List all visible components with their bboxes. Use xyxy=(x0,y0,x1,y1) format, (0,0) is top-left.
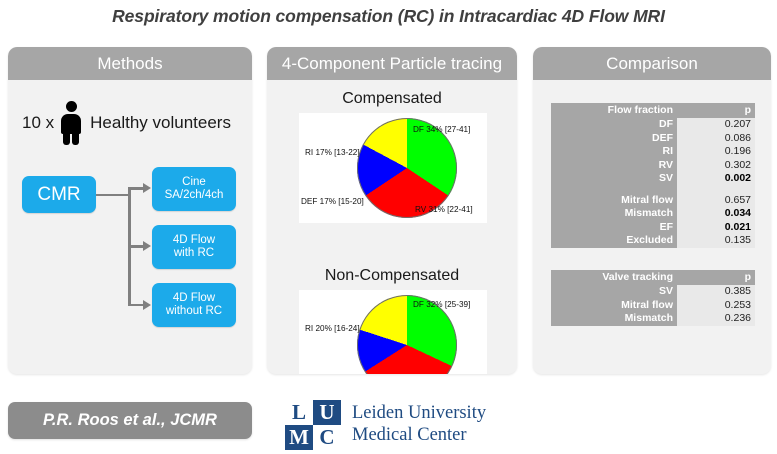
lumc-logo-mark: L U M C xyxy=(285,400,341,450)
flow-node-without-rc-line1: 4D Flow xyxy=(173,292,215,304)
table-row: DF0.207 xyxy=(551,118,755,132)
table-cell-label: SV xyxy=(551,172,677,186)
table-cell-label: Mismatch xyxy=(551,207,677,221)
lumc-letter-u: U xyxy=(313,400,341,425)
table-cell-pvalue: 0.302 xyxy=(677,159,755,173)
table-cell-pvalue: 0.207 xyxy=(677,118,755,132)
table-cell-label: EF xyxy=(551,221,677,235)
table-cell-pvalue: 0.021 xyxy=(677,221,755,235)
table-row: DEF0.086 xyxy=(551,132,755,146)
table-cell-label: Mismatch xyxy=(551,312,677,326)
connector-branch-3 xyxy=(128,304,144,307)
methods-flow-diagram: CMR Cine SA/2ch/4ch 4D Flow with RC 4D F… xyxy=(20,167,242,347)
lumc-letter-m: M xyxy=(285,425,313,450)
citation-badge: P.R. Roos et al., JCMR xyxy=(8,402,252,439)
particle-tracing-panel-header: 4-Component Particle tracing xyxy=(267,47,517,80)
pie-chart-1-label-df: DF 34% [27-41] xyxy=(413,125,470,134)
table-cell-pvalue: 0.657 xyxy=(677,194,755,208)
comparison-panel: Comparison Flow fractionpDF0.207DEF0.086… xyxy=(533,47,771,374)
table-cell-pvalue: 0.034 xyxy=(677,207,755,221)
table-row: Mitral flow0.253 xyxy=(551,299,755,313)
lumc-name-line2: Medical Center xyxy=(352,425,486,447)
connector-branch-1 xyxy=(128,187,144,190)
table-cell-pvalue: 0.385 xyxy=(677,285,755,299)
valve-tracking-table: Valve trackingpSV0.385Mitral flow0.253Mi… xyxy=(551,270,755,326)
lumc-logo-name: Leiden University Medical Center xyxy=(352,403,486,446)
flow-node-4d-flow-with-rc[interactable]: 4D Flow with RC xyxy=(152,225,236,269)
pie-chart-2: DF 32% [25-39] RV 34% [24-43] DEF 14% [1… xyxy=(299,290,487,374)
person-icon xyxy=(58,100,84,146)
table-cell-label: Mitral flow xyxy=(551,194,677,208)
table-row: RI0.196 xyxy=(551,145,755,159)
flow-node-with-rc-line2: with RC xyxy=(174,247,214,259)
pie-chart-2-label-ri: RI 20% [16-24] xyxy=(305,324,360,333)
table-row: Mitral flow0.657 xyxy=(551,194,755,208)
volunteers-row: 10 x Healthy volunteers xyxy=(22,99,238,147)
pie-chart-2-title: Non-Compensated xyxy=(267,267,517,285)
connector-branch-2 xyxy=(128,245,144,248)
pie-chart-1: DF 34% [27-41] RV 31% [22-41] DEF 17% [1… xyxy=(299,113,487,223)
table-cell-label: DF xyxy=(551,118,677,132)
comparison-panel-header: Comparison xyxy=(533,47,771,80)
table-cell-pvalue: 0.135 xyxy=(677,234,755,248)
table-row: SV0.002 xyxy=(551,172,755,186)
table-row: Excluded0.135 xyxy=(551,234,755,248)
pie-chart-1-label-def: DEF 17% [15-20] xyxy=(301,197,364,206)
arrow-head-2 xyxy=(143,241,151,251)
flow-node-cmr[interactable]: CMR xyxy=(22,176,96,213)
table-spacer-row xyxy=(551,186,755,194)
table-row: SV0.385 xyxy=(551,285,755,299)
table-cell-pvalue: 0.002 xyxy=(677,172,755,186)
table-header-value: p xyxy=(677,103,755,118)
lumc-name-line1: Leiden University xyxy=(352,403,486,425)
pie-chart-1-title: Compensated xyxy=(267,90,517,108)
table-header-row: Flow fractionp xyxy=(551,103,755,118)
table-cell-label: Mitral flow xyxy=(551,299,677,313)
volunteers-count: 10 x xyxy=(22,113,54,133)
flow-node-cine[interactable]: Cine SA/2ch/4ch xyxy=(152,167,236,211)
pie-chart-1-label-rv: RV 31% [22-41] xyxy=(415,205,473,214)
table-header-label: Flow fraction xyxy=(551,103,677,118)
table-header-value: p xyxy=(677,270,755,285)
table-row: EF0.021 xyxy=(551,221,755,235)
flow-node-with-rc-line1: 4D Flow xyxy=(173,234,215,246)
table-row: Mismatch0.034 xyxy=(551,207,755,221)
table-cell-pvalue: 0.253 xyxy=(677,299,755,313)
lumc-letter-l: L xyxy=(285,400,313,425)
table-row: Mismatch0.236 xyxy=(551,312,755,326)
table-cell-pvalue: 0.086 xyxy=(677,132,755,146)
arrow-head-3 xyxy=(143,300,151,310)
connector-trunk-horizontal xyxy=(96,194,130,197)
flow-node-without-rc-line2: without RC xyxy=(166,305,222,317)
table-cell-label: SV xyxy=(551,285,677,299)
methods-panel-header: Methods xyxy=(8,47,252,80)
page-title: Respiratory motion compensation (RC) in … xyxy=(0,6,777,27)
table-cell-label: RI xyxy=(551,145,677,159)
table-cell-pvalue: 0.196 xyxy=(677,145,755,159)
table-header-row: Valve trackingp xyxy=(551,270,755,285)
flow-fraction-table: Flow fractionpDF0.207DEF0.086RI0.196RV0.… xyxy=(551,103,755,248)
volunteers-label: Healthy volunteers xyxy=(90,113,231,133)
particle-tracing-panel: 4-Component Particle tracing Compensated… xyxy=(267,47,517,374)
lumc-logo: L U M C Leiden University Medical Center xyxy=(285,400,486,450)
lumc-letter-c: C xyxy=(313,425,341,450)
methods-panel: Methods 10 x Healthy volunteers CMR Cine… xyxy=(8,47,252,374)
pie-chart-1-label-ri: RI 17% [13-22] xyxy=(305,148,360,157)
table-row: RV0.302 xyxy=(551,159,755,173)
table-header-label: Valve tracking xyxy=(551,270,677,285)
pie-chart-2-label-df: DF 32% [25-39] xyxy=(413,300,470,309)
flow-node-4d-flow-without-rc[interactable]: 4D Flow without RC xyxy=(152,283,236,327)
table-cell-label: RV xyxy=(551,159,677,173)
table-cell-label: Excluded xyxy=(551,234,677,248)
flow-node-cine-line1: Cine xyxy=(182,176,206,188)
flow-node-cine-line2: SA/2ch/4ch xyxy=(165,189,224,201)
table-cell-label: DEF xyxy=(551,132,677,146)
table-cell-pvalue: 0.236 xyxy=(677,312,755,326)
arrow-head-1 xyxy=(143,183,151,193)
